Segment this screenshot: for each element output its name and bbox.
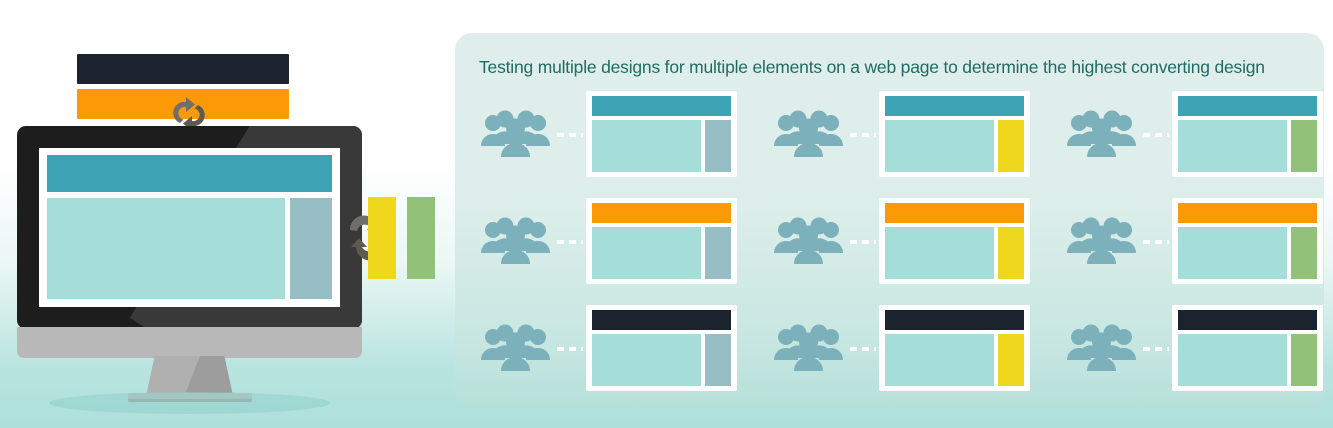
- variant-dark-yellow[interactable]: [766, 305, 1018, 391]
- variant-mini-card[interactable]: [1172, 198, 1323, 284]
- people-group-icon: [774, 324, 844, 374]
- mini-card-sidebar: [705, 120, 731, 172]
- mini-card-header: [885, 96, 1024, 116]
- variant-orange-gray[interactable]: [473, 198, 725, 284]
- dashed-connector: [557, 133, 583, 137]
- dashed-connector: [850, 133, 876, 137]
- dashed-connector: [1143, 133, 1169, 137]
- mini-card-header: [885, 203, 1024, 223]
- people-group-icon: [1067, 324, 1137, 374]
- variant-orange-yellow[interactable]: [766, 198, 1018, 284]
- dashed-connector: [850, 240, 876, 244]
- sidebar-variant-green-swatch: [407, 197, 435, 279]
- variant-matrix-panel: Testing multiple designs for multiple el…: [455, 33, 1324, 408]
- variant-mini-card[interactable]: [1172, 305, 1323, 391]
- dashed-connector: [1143, 347, 1169, 351]
- dashed-connector: [557, 347, 583, 351]
- variant-teal-green[interactable]: [1059, 91, 1311, 177]
- variant-orange-green[interactable]: [1059, 198, 1311, 284]
- mini-card-sidebar: [998, 120, 1024, 172]
- sidebar-variant-yellow-swatch: [368, 197, 396, 279]
- monitor-screen: [39, 148, 340, 307]
- mini-card-sidebar: [998, 227, 1024, 279]
- dashed-connector: [850, 347, 876, 351]
- variant-grid: [473, 91, 1311, 391]
- header-variant-dark-swatch: [77, 54, 289, 84]
- mini-card-sidebar: [705, 227, 731, 279]
- mini-card-sidebar: [1291, 120, 1317, 172]
- variant-mini-card[interactable]: [586, 198, 737, 284]
- variant-dark-green[interactable]: [1059, 305, 1311, 391]
- mini-card-body: [592, 334, 701, 386]
- illustration-canvas: Testing multiple designs for multiple el…: [0, 0, 1333, 428]
- people-group-icon: [1067, 110, 1137, 160]
- mini-card-body: [1178, 120, 1287, 172]
- mini-card-body: [885, 334, 994, 386]
- mini-card-body: [1178, 227, 1287, 279]
- mini-card-header: [592, 203, 731, 223]
- screen-header-block: [47, 155, 332, 192]
- dashed-connector: [557, 240, 583, 244]
- screen-sidebar-block: [290, 198, 332, 299]
- row-dark-header: [473, 305, 1311, 391]
- mini-card-body: [592, 120, 701, 172]
- monitor-ground-shadow: [49, 392, 330, 414]
- monitor-chin: [17, 327, 362, 358]
- people-group-icon: [774, 110, 844, 160]
- people-group-icon: [774, 217, 844, 267]
- variant-mini-card[interactable]: [879, 198, 1030, 284]
- mini-card-sidebar: [1291, 334, 1317, 386]
- mini-card-sidebar: [705, 334, 731, 386]
- mini-card-header: [885, 310, 1024, 330]
- row-teal-header: [473, 91, 1311, 177]
- mini-card-header: [1178, 310, 1317, 330]
- people-group-icon: [481, 110, 551, 160]
- variant-teal-gray[interactable]: [473, 91, 725, 177]
- monitor-bezel: [17, 126, 362, 329]
- mini-card-header: [1178, 203, 1317, 223]
- variant-dark-gray[interactable]: [473, 305, 725, 391]
- mini-card-sidebar: [998, 334, 1024, 386]
- mini-card-header: [1178, 96, 1317, 116]
- monitor-illustration: [0, 0, 455, 428]
- mini-card-body: [885, 120, 994, 172]
- variant-mini-card[interactable]: [1172, 91, 1323, 177]
- variant-mini-card[interactable]: [879, 305, 1030, 391]
- variant-mini-card[interactable]: [586, 91, 737, 177]
- variant-mini-card[interactable]: [879, 91, 1030, 177]
- people-group-icon: [481, 217, 551, 267]
- mini-card-body: [885, 227, 994, 279]
- panel-caption: Testing multiple designs for multiple el…: [479, 57, 1309, 78]
- variant-teal-yellow[interactable]: [766, 91, 1018, 177]
- variant-mini-card[interactable]: [586, 305, 737, 391]
- people-group-icon: [1067, 217, 1137, 267]
- mini-card-body: [592, 227, 701, 279]
- dashed-connector: [1143, 240, 1169, 244]
- mini-card-body: [1178, 334, 1287, 386]
- mini-card-header: [592, 96, 731, 116]
- screen-body-block: [47, 198, 285, 299]
- people-group-icon: [481, 324, 551, 374]
- row-orange-header: [473, 198, 1311, 284]
- mini-card-sidebar: [1291, 227, 1317, 279]
- mini-card-header: [592, 310, 731, 330]
